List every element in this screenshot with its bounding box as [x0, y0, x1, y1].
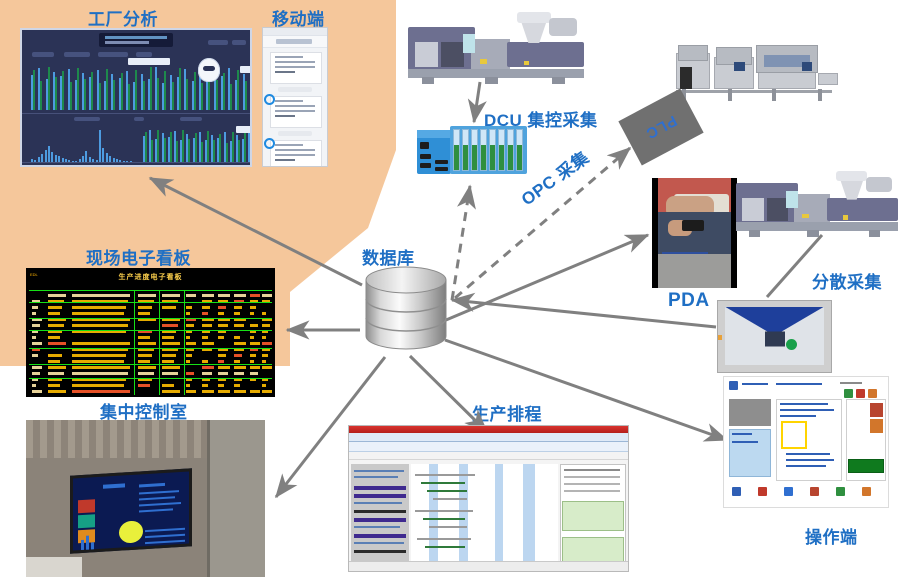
scheduling-title-bar	[349, 426, 628, 433]
tooltip-chip	[128, 58, 170, 65]
toolbar-icon[interactable]	[836, 487, 845, 496]
chart-bar	[238, 140, 240, 162]
scheduling-detail-panel	[560, 464, 626, 562]
kanban-cell	[48, 390, 66, 393]
kanban-cell	[32, 336, 36, 339]
kanban-cell	[250, 366, 260, 369]
kanban-cell	[162, 336, 174, 339]
injection-molding-machine-top	[408, 6, 584, 84]
kanban-cell	[262, 312, 266, 315]
chart-bar	[99, 130, 101, 162]
kanban-cell	[72, 366, 130, 369]
mobile-status-bar	[263, 28, 327, 36]
kanban-cell	[72, 342, 130, 345]
mascot-icon	[198, 58, 220, 82]
kanban-cell	[234, 336, 240, 339]
field-kanban-board[interactable]: EDL 生产进度电子看板	[26, 268, 275, 397]
kanban-title: 生产进度电子看板	[119, 272, 183, 282]
kanban-cell	[186, 390, 196, 393]
chart-bar	[172, 82, 174, 110]
kanban-cell	[138, 372, 154, 375]
kanban-lead-text: EDL	[30, 272, 38, 277]
industrial-tablet[interactable]	[717, 300, 832, 373]
kanban-gridline	[29, 348, 272, 349]
chat-message-card	[270, 96, 322, 128]
kanban-cell	[234, 360, 240, 363]
edge-db-to-scheduling	[410, 356, 487, 432]
kanban-cell	[202, 294, 214, 297]
alert-icon[interactable]	[856, 389, 865, 398]
kanban-gridline	[29, 330, 272, 331]
kanban-cell	[262, 336, 266, 339]
chart-bar	[157, 130, 159, 162]
kanban-cell	[162, 354, 176, 357]
kanban-gridline	[29, 364, 272, 365]
kanban-cell	[48, 372, 64, 375]
chart-bar	[51, 152, 53, 162]
kanban-cell	[138, 294, 156, 297]
kanban-cell	[250, 312, 254, 315]
kanban-cell	[262, 366, 272, 369]
kanban-cell	[250, 372, 258, 375]
kanban-cell	[72, 384, 124, 387]
qr-code-icon	[765, 332, 785, 347]
chart-bar	[62, 71, 64, 110]
chart-bar	[164, 71, 166, 110]
kanban-cell	[250, 360, 254, 363]
kanban-cell	[202, 306, 210, 309]
toolbar-icon[interactable]	[732, 487, 741, 496]
kanban-cell	[186, 384, 190, 387]
kanban-cell	[48, 354, 62, 357]
kanban-cell	[218, 294, 230, 297]
chart-bar	[245, 81, 247, 110]
toolbar-icon[interactable]	[862, 487, 871, 496]
kanban-cell	[234, 306, 242, 309]
chart-bar	[48, 146, 50, 162]
chart-bar	[70, 82, 72, 110]
kanban-cell	[162, 372, 178, 375]
toolbar-icon[interactable]	[758, 487, 767, 496]
chart-bar	[219, 134, 221, 162]
kanban-cell	[138, 360, 150, 363]
chart-bar	[226, 143, 228, 162]
chart-bar	[201, 142, 203, 162]
chart-bar	[55, 77, 57, 110]
chart-bar	[170, 132, 172, 162]
kanban-cell	[202, 384, 208, 387]
kanban-cell	[48, 312, 60, 315]
kanban-cell	[202, 324, 212, 327]
kanban-cell	[48, 336, 60, 339]
kanban-cell	[72, 306, 126, 309]
chart-bar	[232, 132, 234, 162]
dashboard-lower-right-chart	[142, 126, 246, 162]
kanban-cell	[218, 312, 224, 315]
kanban-cell	[218, 390, 230, 393]
chart-bar	[230, 84, 232, 110]
part-photo	[729, 399, 771, 426]
highlight-blob	[119, 520, 143, 543]
chart-bar	[250, 138, 252, 162]
app-logo-icon	[729, 381, 738, 390]
scheduling-filter-bar	[349, 452, 628, 460]
chart-bar	[121, 73, 123, 110]
kanban-cell	[48, 360, 60, 363]
kanban-cell	[162, 384, 174, 387]
architecture-diagram-canvas: 工厂分析 移动端	[0, 0, 900, 577]
kanban-cell	[218, 384, 224, 387]
kanban-cell	[138, 366, 156, 369]
kanban-cell	[72, 294, 130, 297]
kanban-gridline	[29, 378, 272, 379]
kanban-cell	[32, 324, 40, 327]
info-panel	[729, 429, 771, 477]
chart-bar	[186, 79, 188, 110]
legend-chip-right2	[236, 126, 252, 133]
kanban-cell	[72, 324, 128, 327]
kanban-cell	[138, 336, 150, 339]
operator-avatar	[870, 403, 883, 417]
kanban-cell	[162, 324, 178, 327]
kanban-cell	[162, 306, 176, 309]
kanban-cell	[162, 390, 180, 393]
plc-label: PLC	[642, 112, 679, 143]
kanban-cell	[162, 360, 174, 363]
kanban-cell	[202, 366, 214, 369]
settings-icon[interactable]	[868, 389, 877, 398]
chart-bar	[244, 130, 246, 162]
operator-terminal-app[interactable]	[723, 376, 889, 508]
dashboard-title-plate	[99, 33, 173, 47]
kanban-cell	[48, 384, 60, 387]
chart-bar	[84, 79, 86, 110]
status-button[interactable]	[848, 459, 884, 473]
chart-bar	[77, 68, 79, 110]
mobile-nav-bar	[263, 36, 327, 48]
kanban-cell	[202, 360, 208, 363]
chart-bar	[201, 83, 203, 110]
chart-bar	[48, 67, 50, 110]
kanban-cell	[138, 354, 152, 357]
kanban-cell	[262, 324, 270, 327]
chart-bar	[106, 69, 108, 110]
production-scheduling-app[interactable]	[348, 425, 629, 572]
kanban-cell	[32, 306, 38, 309]
kanban-cell	[162, 294, 180, 297]
kanban-cell	[234, 390, 246, 393]
kanban-cell	[186, 360, 190, 363]
kanban-gridline	[29, 302, 272, 303]
kanban-cell	[32, 354, 38, 357]
scheduling-gantt-area	[411, 464, 558, 562]
kanban-cell	[138, 342, 156, 345]
kanban-cell	[162, 342, 180, 345]
chart-bar	[164, 138, 166, 162]
chart-bar	[135, 70, 137, 110]
kanban-cell	[234, 342, 246, 345]
chart-bar	[41, 154, 43, 162]
kanban-cell	[186, 354, 192, 357]
kanban-cell	[234, 312, 240, 315]
kanban-cell	[262, 360, 266, 363]
chat-message-card	[270, 52, 322, 84]
kanban-cell	[72, 390, 130, 393]
chart-bar	[40, 81, 42, 110]
user-icon[interactable]	[844, 389, 853, 398]
control-room-video-wall	[70, 468, 192, 553]
edge-machine-to-dcu	[474, 82, 480, 122]
chart-bar	[157, 78, 159, 110]
chart-bar	[102, 148, 104, 162]
chart-bar	[194, 72, 196, 110]
chart-bar	[143, 81, 145, 110]
chart-bar	[237, 70, 239, 110]
scheduling-menu-bar	[349, 433, 628, 442]
chart-bar	[145, 132, 147, 162]
kanban-cell	[202, 312, 208, 315]
chart-bar	[216, 80, 218, 110]
kanban-cell	[32, 312, 36, 315]
chart-bar	[113, 80, 115, 110]
kanban-cell	[32, 366, 42, 369]
kanban-cell	[138, 384, 150, 387]
kanban-cell	[218, 354, 226, 357]
kanban-cell	[202, 336, 208, 339]
kanban-cell	[250, 324, 258, 327]
pda-photo	[652, 178, 737, 288]
chart-bar	[91, 72, 93, 110]
tablet-screen	[725, 307, 824, 365]
kanban-gridline	[29, 318, 272, 319]
kanban-cell	[262, 354, 268, 357]
kanban-cell	[32, 372, 40, 375]
chart-bar	[195, 133, 197, 162]
edge-machine-to-tablet	[767, 235, 822, 297]
kanban-cell	[48, 366, 66, 369]
kanban-cell	[72, 312, 124, 315]
kanban-cell	[48, 294, 66, 297]
dashboard-lower-left-chart	[30, 126, 134, 162]
kanban-cell	[186, 306, 192, 309]
kanban-cell	[32, 342, 42, 345]
legend-chip-right	[240, 66, 252, 73]
kanban-cell	[186, 324, 194, 327]
kanban-cell	[234, 384, 240, 387]
kanban-cell	[138, 312, 150, 315]
kanban-cell	[234, 324, 244, 327]
chart-bar	[207, 131, 209, 162]
kanban-cell	[186, 312, 190, 315]
kanban-cell	[48, 306, 62, 309]
kanban-cell	[72, 360, 124, 363]
central-control-room	[26, 420, 265, 577]
chart-bar	[55, 155, 57, 162]
chart-bar	[179, 68, 181, 110]
kanban-row	[29, 388, 272, 395]
chart-bar	[128, 84, 130, 110]
kanban-cell	[218, 366, 230, 369]
kanban-cell	[234, 354, 242, 357]
kanban-cell	[250, 354, 256, 357]
kanban-cell	[48, 342, 66, 345]
kanban-cell	[72, 372, 128, 375]
kanban-cell	[262, 294, 272, 297]
scheduling-toolbar	[349, 442, 628, 452]
kanban-cell	[234, 366, 246, 369]
kanban-cell	[186, 342, 196, 345]
toolbar-icon[interactable]	[810, 487, 819, 496]
highlight-box	[781, 421, 807, 449]
kanban-cell	[250, 390, 260, 393]
kanban-cell	[262, 342, 272, 345]
kanban-cell	[48, 324, 64, 327]
kanban-gridline	[29, 290, 272, 291]
chart-bar	[85, 151, 87, 162]
factory-analysis-dashboard[interactable]	[20, 28, 252, 167]
chart-bar	[248, 130, 250, 162]
kanban-cell	[162, 366, 180, 369]
edge-db-to-pda	[446, 235, 648, 320]
chart-bar	[182, 130, 184, 162]
kanban-cell	[186, 336, 190, 339]
chart-bar	[151, 140, 153, 162]
chat-message-card	[270, 140, 322, 167]
kanban-cell	[218, 324, 228, 327]
mobile-client[interactable]	[262, 27, 328, 167]
chart-bar	[150, 67, 152, 110]
kanban-cell	[218, 336, 224, 339]
edge-tablet-to-db	[452, 300, 716, 327]
chart-bar	[223, 73, 225, 110]
kanban-cell	[250, 336, 254, 339]
kanban-cell	[218, 306, 226, 309]
kanban-cell	[234, 372, 244, 375]
injection-molding-machine-right	[736, 165, 898, 237]
chart-bar	[45, 150, 47, 162]
kanban-cell	[32, 390, 42, 393]
kanban-cell	[202, 342, 214, 345]
edge-db-to-dcu-dashed	[452, 186, 470, 300]
kanban-cell	[250, 342, 260, 345]
kanban-cell	[250, 294, 260, 297]
kanban-cell	[186, 294, 196, 297]
kanban-cell	[138, 306, 152, 309]
kanban-cell	[262, 390, 272, 393]
kanban-cell	[72, 354, 126, 357]
kanban-cell	[234, 294, 246, 297]
scheduling-resource-list	[351, 464, 409, 562]
scheduling-status-bar	[349, 561, 628, 571]
chart-bar	[33, 70, 35, 110]
chart-bar	[106, 153, 108, 162]
kanban-cell	[32, 384, 36, 387]
kanban-cell	[186, 372, 194, 375]
chart-bar	[213, 140, 215, 162]
operator-avatar	[870, 419, 883, 433]
chart-bar	[188, 139, 190, 162]
kanban-cell	[202, 372, 212, 375]
kanban-cell	[202, 390, 214, 393]
database-cylinder[interactable]	[360, 262, 452, 358]
chart-bar	[99, 83, 101, 110]
kanban-cell	[250, 306, 256, 309]
kanban-cell	[262, 384, 266, 387]
chart-bar	[176, 141, 178, 162]
kanban-cell	[218, 360, 224, 363]
toolbar-icon[interactable]	[784, 487, 793, 496]
kanban-cell	[218, 372, 228, 375]
